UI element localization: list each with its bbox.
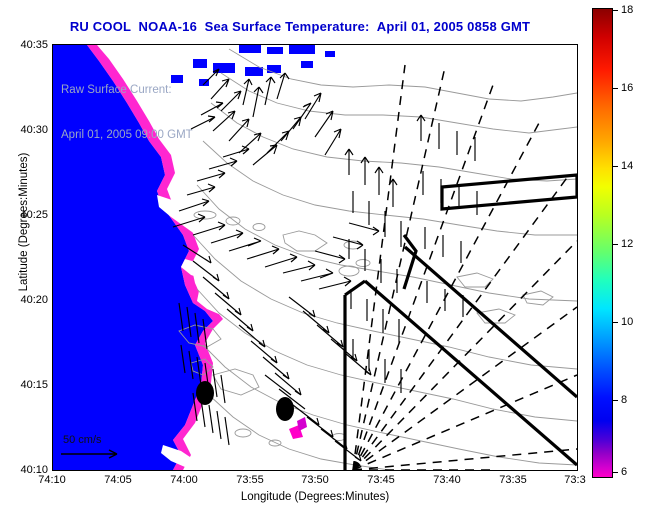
x-tick-2: 74:00 [170,474,198,486]
radar-radial-lines [353,65,577,470]
surface-current-vectors [173,69,477,461]
x-tick-5: 73:45 [367,474,395,486]
stamp-line-1: Raw Surface Current: [61,83,193,98]
x-tick-6: 73:40 [433,474,461,486]
stamp-line-2: April 01, 2005 09:00 GMT [61,128,193,143]
x-tick-3: 73:55 [236,474,264,486]
raw-surface-current-stamp: Raw Surface Current: April 01, 2005 09:0… [61,53,193,173]
colorbar-tick-3: 12 [621,238,633,250]
colorbar-tick-2: 14 [621,160,633,172]
colorbar-tick-0: 18 [621,4,633,16]
y-tick-0: 40:35 [20,39,48,51]
x-axis-ticks: 74:10 74:05 74:00 73:55 73:50 73:45 73:4… [52,474,582,490]
figure-title: RU COOL NOAA-16 Sea Surface Temperature:… [0,19,600,34]
y-axis-title: Latitude (Degrees:Minutes) [18,102,30,342]
x-tick-7: 73:35 [499,474,527,486]
station-marker-east[interactable] [276,397,294,421]
x-tick-8: 73:3 [564,474,585,486]
colorbar-tick-1: 16 [621,82,633,94]
x-tick-4: 73:50 [301,474,329,486]
colorbar-tick-6: 6 [621,466,627,478]
bathymetry-contours [179,49,577,470]
colorbar-tick-5: 8 [621,394,627,406]
colorbar-tick-4: 10 [621,316,633,328]
colorbar-gradient [592,8,613,478]
vector-scale-label: 50 cm/s [63,434,102,446]
x-tick-1: 74:05 [104,474,132,486]
x-tick-0: 74:10 [38,474,66,486]
sst-map-figure: RU COOL NOAA-16 Sea Surface Temperature:… [0,0,651,515]
y-tick-4: 40:15 [20,379,48,391]
station-marker-west[interactable] [196,381,214,405]
map-plot-area[interactable]: Raw Surface Current: April 01, 2005 09:0… [52,44,578,471]
x-axis-title: Longitude (Degrees:Minutes) [52,491,578,503]
